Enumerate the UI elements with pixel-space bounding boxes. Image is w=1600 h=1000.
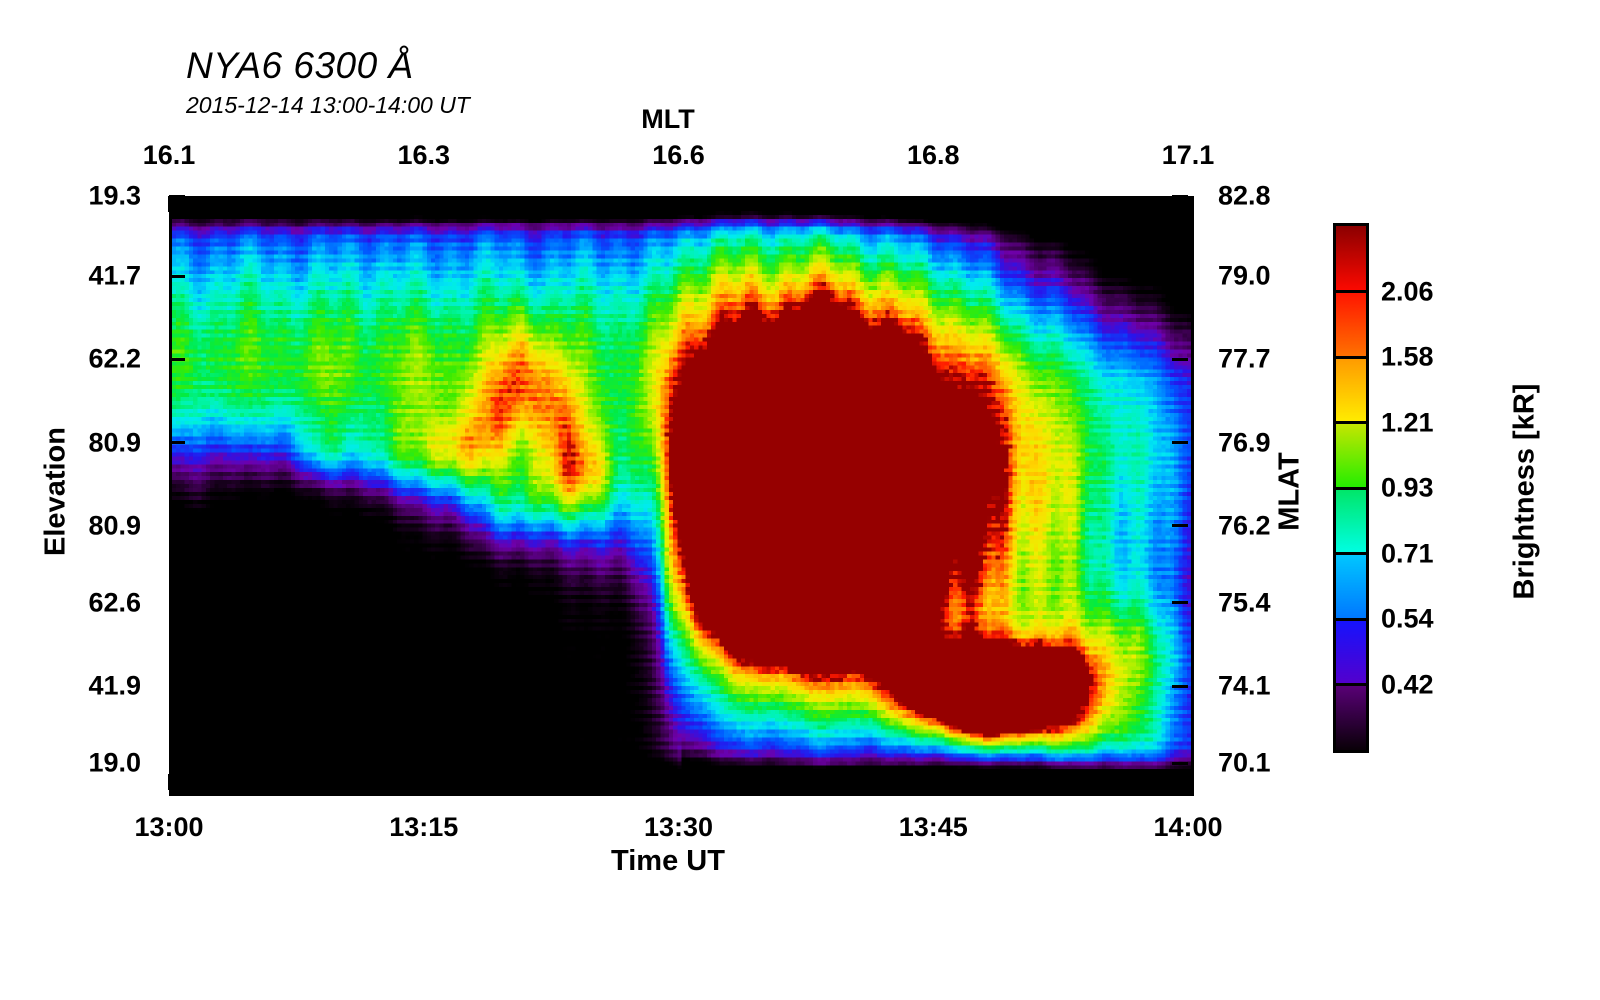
- left-axis-major-tick: [169, 762, 185, 765]
- right-axis-tick-label: 76.2: [1218, 510, 1348, 541]
- plot-subtitle: 2015-12-14 13:00-14:00 UT: [186, 92, 470, 119]
- top-axis-major-tick: [932, 196, 935, 212]
- top-axis-tick-label: 16.3: [397, 140, 450, 171]
- bottom-axis-minor-tick: [592, 781, 595, 790]
- bottom-axis-major-tick: [677, 774, 680, 790]
- bottom-axis-tick-label: 13:15: [389, 812, 458, 843]
- colorbar-tick-label: 1.58: [1381, 342, 1434, 373]
- bottom-axis-minor-tick: [507, 781, 510, 790]
- colorbar-separator: [1333, 618, 1369, 621]
- left-axis-major-tick: [169, 524, 185, 527]
- right-axis-major-tick: [1172, 685, 1188, 688]
- bottom-axis-minor-tick: [1017, 781, 1020, 790]
- top-axis-major-tick: [1187, 196, 1190, 212]
- keogram-image: [172, 199, 1191, 793]
- colorbar-tick-label: 0.42: [1381, 669, 1434, 700]
- left-axis-tick-label: 19.0: [19, 748, 141, 779]
- colorbar-separator: [1333, 290, 1369, 293]
- colorbar-tick-label: 0.71: [1381, 538, 1434, 569]
- bottom-axis-minor-tick: [252, 781, 255, 790]
- bottom-axis-major-tick: [422, 774, 425, 790]
- colorbar-separator: [1333, 421, 1369, 424]
- left-axis-tick-label: 41.9: [19, 671, 141, 702]
- left-axis-major-tick: [169, 195, 185, 198]
- colorbar-tick-label: 0.54: [1381, 604, 1434, 635]
- bottom-axis-tick-label: 13:45: [899, 812, 968, 843]
- right-axis-title: MLAT: [1274, 392, 1307, 592]
- plot-title: NYA6 6300 Å: [186, 45, 414, 87]
- bottom-axis-tick-label: 14:00: [1153, 812, 1222, 843]
- right-axis-major-tick: [1172, 762, 1188, 765]
- left-axis-major-tick: [169, 275, 185, 278]
- colorbar-separator: [1333, 683, 1369, 686]
- right-axis-major-tick: [1172, 358, 1188, 361]
- colorbar-separator: [1333, 552, 1369, 555]
- left-axis-major-tick: [169, 685, 185, 688]
- right-axis-major-tick: [1172, 601, 1188, 604]
- top-axis-title: MLT: [641, 104, 694, 135]
- left-axis-tick-label: 19.3: [19, 181, 141, 212]
- right-axis-tick-label: 76.9: [1218, 427, 1348, 458]
- right-axis-tick-label: 74.1: [1218, 671, 1348, 702]
- top-axis-major-tick: [677, 196, 680, 212]
- top-axis-tick-label: 16.8: [907, 140, 960, 171]
- left-axis-end-tick: [169, 788, 185, 791]
- colorbar-tick-label: 2.06: [1381, 276, 1434, 307]
- bottom-axis-tick-label: 13:00: [134, 812, 203, 843]
- top-axis-minor-tick: [507, 196, 510, 205]
- colorbar-separator: [1333, 487, 1369, 490]
- left-axis-tick-label: 62.2: [19, 344, 141, 375]
- right-axis-major-tick: [1172, 275, 1188, 278]
- left-axis-tick-label: 62.6: [19, 587, 141, 618]
- top-axis-tick-label: 17.1: [1162, 140, 1215, 171]
- top-axis-minor-tick: [592, 196, 595, 205]
- keogram-plot-area: [169, 196, 1194, 796]
- colorbar-separator: [1333, 356, 1369, 359]
- right-axis-tick-label: 79.0: [1218, 261, 1348, 292]
- colorbar-title: Brightness [kR]: [1509, 362, 1542, 622]
- top-axis-minor-tick: [1017, 196, 1020, 205]
- top-axis-minor-tick: [762, 196, 765, 205]
- right-axis-tick-label: 82.8: [1218, 181, 1348, 212]
- bottom-axis-minor-tick: [762, 781, 765, 790]
- right-axis-major-tick: [1172, 441, 1188, 444]
- top-axis-tick-label: 16.6: [652, 140, 705, 171]
- colorbar-tick-label: 1.21: [1381, 407, 1434, 438]
- top-axis-minor-tick: [337, 196, 340, 205]
- left-axis-tick-label: 80.9: [19, 427, 141, 458]
- top-axis-minor-tick: [847, 196, 850, 205]
- right-axis-tick-label: 75.4: [1218, 587, 1348, 618]
- left-axis-title: Elevation: [40, 392, 73, 592]
- colorbar-tick-label: 0.93: [1381, 473, 1434, 504]
- left-axis-major-tick: [169, 358, 185, 361]
- top-axis-tick-label: 16.1: [143, 140, 196, 171]
- bottom-axis-minor-tick: [847, 781, 850, 790]
- bottom-axis-minor-tick: [1102, 781, 1105, 790]
- bottom-axis-major-tick: [932, 774, 935, 790]
- bottom-axis-tick-label: 13:30: [644, 812, 713, 843]
- bottom-axis-minor-tick: [337, 781, 340, 790]
- top-axis-minor-tick: [252, 196, 255, 205]
- left-axis-major-tick: [169, 601, 185, 604]
- right-axis-tick-label: 77.7: [1218, 344, 1348, 375]
- left-axis-tick-label: 41.7: [19, 261, 141, 292]
- right-axis-major-tick: [1172, 195, 1188, 198]
- left-axis-major-tick: [169, 441, 185, 444]
- bottom-axis-title: Time UT: [611, 845, 725, 878]
- right-axis-tick-label: 70.1: [1218, 748, 1348, 779]
- top-axis-major-tick: [168, 196, 171, 212]
- top-axis-major-tick: [422, 196, 425, 212]
- right-axis-major-tick: [1172, 524, 1188, 527]
- left-axis-tick-label: 80.9: [19, 510, 141, 541]
- top-axis-minor-tick: [1102, 196, 1105, 205]
- bottom-axis-major-tick: [1187, 774, 1190, 790]
